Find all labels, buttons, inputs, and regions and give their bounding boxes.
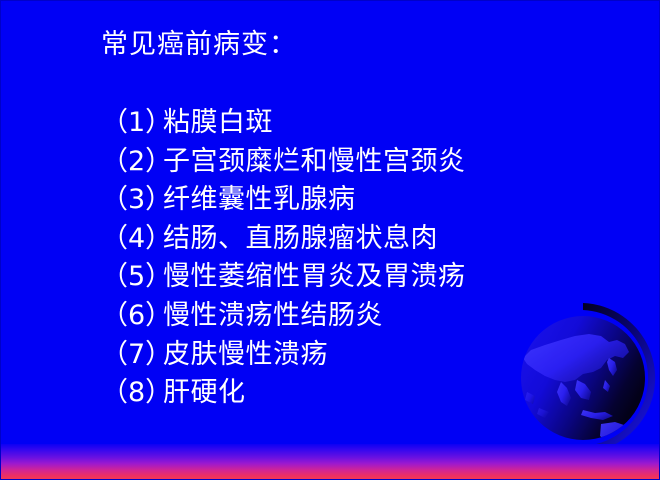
list-item-label: 结肠、直肠腺瘤状息肉 [163,220,438,259]
list-item: （6） 慢性溃疡性结肠炎 [101,297,466,336]
list-item-label: 慢性萎缩性胃炎及胃溃疡 [163,258,466,297]
bottom-gradient-band [0,444,660,480]
list-item-marker: （7） [101,336,163,375]
list-item-label: 皮肤慢性溃疡 [163,336,328,375]
list-item-marker: （3） [101,181,163,220]
list-item-label: 慢性溃疡性结肠炎 [163,297,383,336]
list-item: （8） 肝硬化 [101,374,466,413]
list-item-marker: （1） [101,104,163,143]
list-item-label: 子宫颈糜烂和慢性宫颈炎 [163,143,466,182]
list-item: （5） 慢性萎缩性胃炎及胃溃疡 [101,258,466,297]
list-item: （2） 子宫颈糜烂和慢性宫颈炎 [101,143,466,182]
list-item: （3） 纤维囊性乳腺病 [101,181,466,220]
list-item: （4） 结肠、直肠腺瘤状息肉 [101,220,466,259]
list-item-marker: （2） [101,143,163,182]
globe-arc-icon [579,303,655,453]
globe-icon [521,316,645,444]
page-title: 常见癌前病变： [101,28,297,62]
list-item-marker: （4） [101,220,163,259]
list-item-marker: （8） [101,374,163,413]
precancerous-lesion-list: （1） 粘膜白斑 （2） 子宫颈糜烂和慢性宫颈炎 （3） 纤维囊性乳腺病 （4）… [101,104,466,413]
slide: 常见癌前病变： （1） 粘膜白斑 （2） 子宫颈糜烂和慢性宫颈炎 （3） 纤维囊… [0,0,660,480]
list-item-label: 肝硬化 [163,374,246,413]
list-item-marker: （6） [101,297,163,336]
list-item: （1） 粘膜白斑 [101,104,466,143]
list-item-marker: （5） [101,258,163,297]
list-item-label: 纤维囊性乳腺病 [163,181,356,220]
list-item-label: 粘膜白斑 [163,104,273,143]
list-item: （7） 皮肤慢性溃疡 [101,336,466,375]
